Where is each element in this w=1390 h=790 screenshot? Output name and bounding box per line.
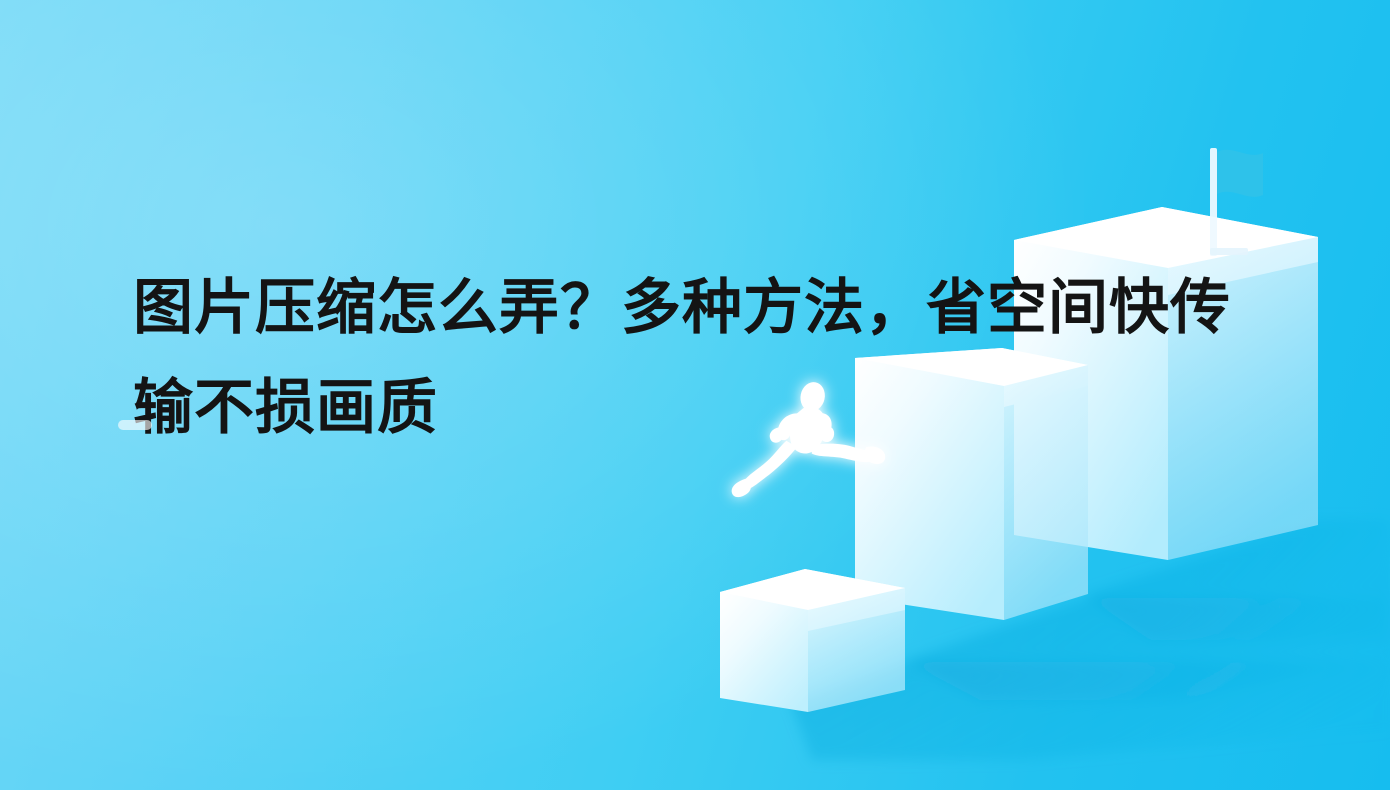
flag-cloth — [1217, 150, 1263, 197]
step-block-1-top-plane — [720, 569, 905, 631]
step-block-1-top — [720, 569, 905, 610]
title-block: 图片压缩怎么弄？多种方法，省空间快传输不损画质 — [133, 258, 1263, 458]
shadow-step-1 — [790, 662, 1390, 760]
step-block-1-front — [720, 592, 808, 712]
step-block-1 — [720, 569, 905, 712]
slide-canvas: 图片压缩怎么弄？多种方法，省空间快传输不损画质 — [0, 0, 1390, 790]
flag-pole — [1210, 148, 1217, 256]
title-accent-dash — [118, 420, 152, 430]
shadow-step-2 — [905, 598, 1390, 700]
shadow-step-3 — [1085, 520, 1390, 640]
flag-pole-base — [1210, 248, 1248, 255]
goal-flag — [1210, 148, 1263, 256]
page-title: 图片压缩怎么弄？多种方法，省空间快传输不损画质 — [133, 258, 1263, 458]
step-block-1-side — [808, 588, 905, 712]
block-shadows — [790, 520, 1390, 760]
